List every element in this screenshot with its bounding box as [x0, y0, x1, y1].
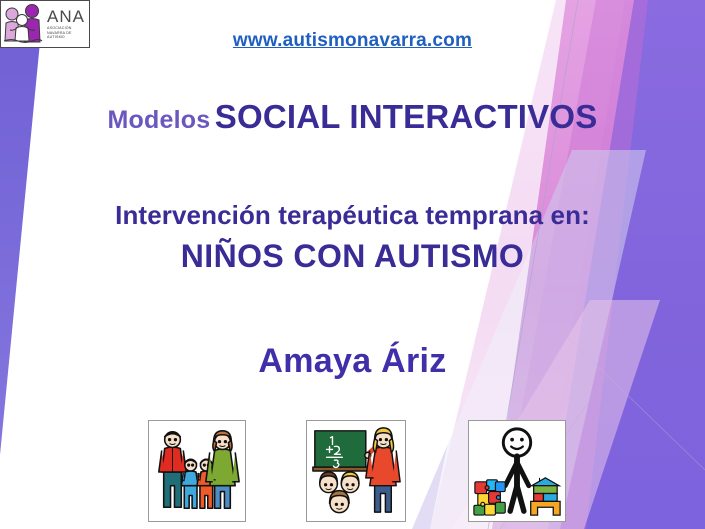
slide-title: Modelos SOCIAL INTERACTIVOS [0, 98, 705, 136]
family-pictogram-art [149, 421, 245, 521]
puzzle-pieces [474, 480, 505, 515]
family-pictogram [148, 420, 246, 522]
child-autism-pictogram [468, 420, 566, 522]
title-main: SOCIAL INTERACTIVOS [215, 98, 598, 135]
classroom-pictogram-art [307, 421, 405, 521]
title-slide: ANA ASOCIACIÓN NAVARRA DE AUTISMO www.au… [0, 0, 705, 529]
subtitle-line-1: Intervención terapéutica temprana en: [0, 200, 705, 231]
website-link[interactable]: www.autismonavarra.com [0, 30, 705, 52]
classroom-pictogram [306, 420, 406, 522]
author-name: Amaya Áriz [0, 342, 705, 381]
ana-acronym: ANA [47, 8, 89, 25]
child-autism-pictogram-art [469, 421, 565, 521]
subtitle-line-2: NIÑOS CON AUTISMO [0, 238, 705, 275]
title-prefix: Modelos [108, 106, 211, 134]
